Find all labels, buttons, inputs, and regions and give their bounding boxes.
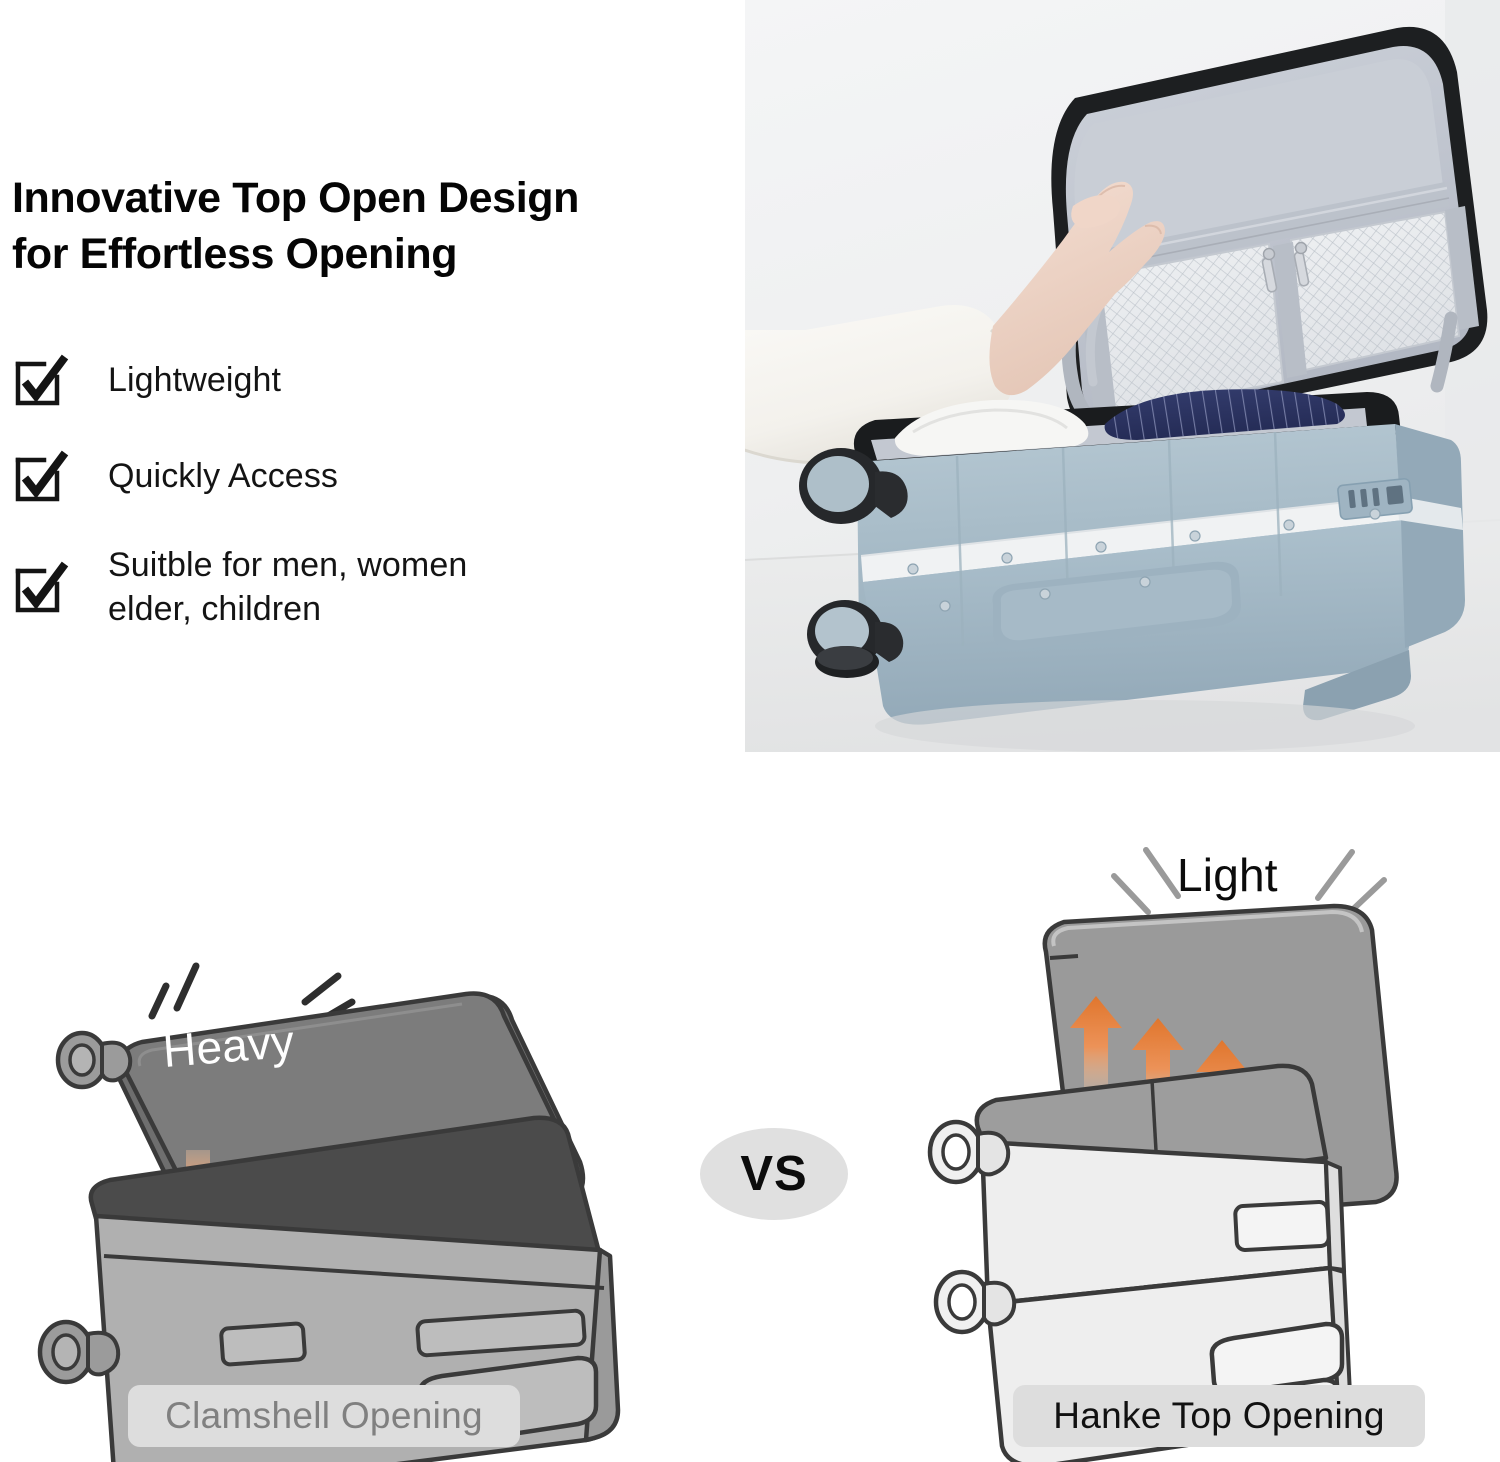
heavy-label: Heavy [161,1014,296,1078]
feature-label-line-1: Quickly Access [108,455,338,499]
feature-item-suitable-for-all: Suitble for men, women elder, children [10,544,710,631]
feature-label: Lightweight [108,359,281,403]
checkbox-checked-icon [14,355,66,407]
headline-line-1: Innovative Top Open Design [12,171,742,227]
feature-item-lightweight: Lightweight [10,352,710,410]
checkbox-checked-icon [14,562,66,614]
feature-label-line-2: elder, children [108,588,467,632]
feature-checklist: Lightweight Quickly Access [10,352,710,631]
top-opening-illustration [930,850,1397,1462]
feature-item-quickly-access: Quickly Access [10,448,710,506]
product-photo [745,0,1500,752]
clamshell-opening-label: Clamshell Opening [165,1395,483,1437]
checkbox-checked-icon [14,451,66,503]
feature-label: Suitble for men, women elder, children [108,544,467,631]
vs-label: VS [740,1146,807,1202]
vs-badge: VS [700,1128,848,1220]
headline-line-2: for Effortless Opening [12,227,742,283]
feature-label: Quickly Access [108,455,338,499]
light-label: Light [1177,848,1278,902]
top-feature-section: Innovative Top Open Design for Effortles… [0,0,1500,760]
hanke-top-opening-label: Hanke Top Opening [1053,1395,1385,1437]
feature-label-line-1: Lightweight [108,359,281,403]
clamshell-opening-badge: Clamshell Opening [128,1385,520,1447]
hanke-top-opening-badge: Hanke Top Opening [1013,1385,1425,1447]
page-title: Innovative Top Open Design for Effortles… [12,171,742,283]
feature-label-line-1: Suitble for men, women [108,544,467,588]
